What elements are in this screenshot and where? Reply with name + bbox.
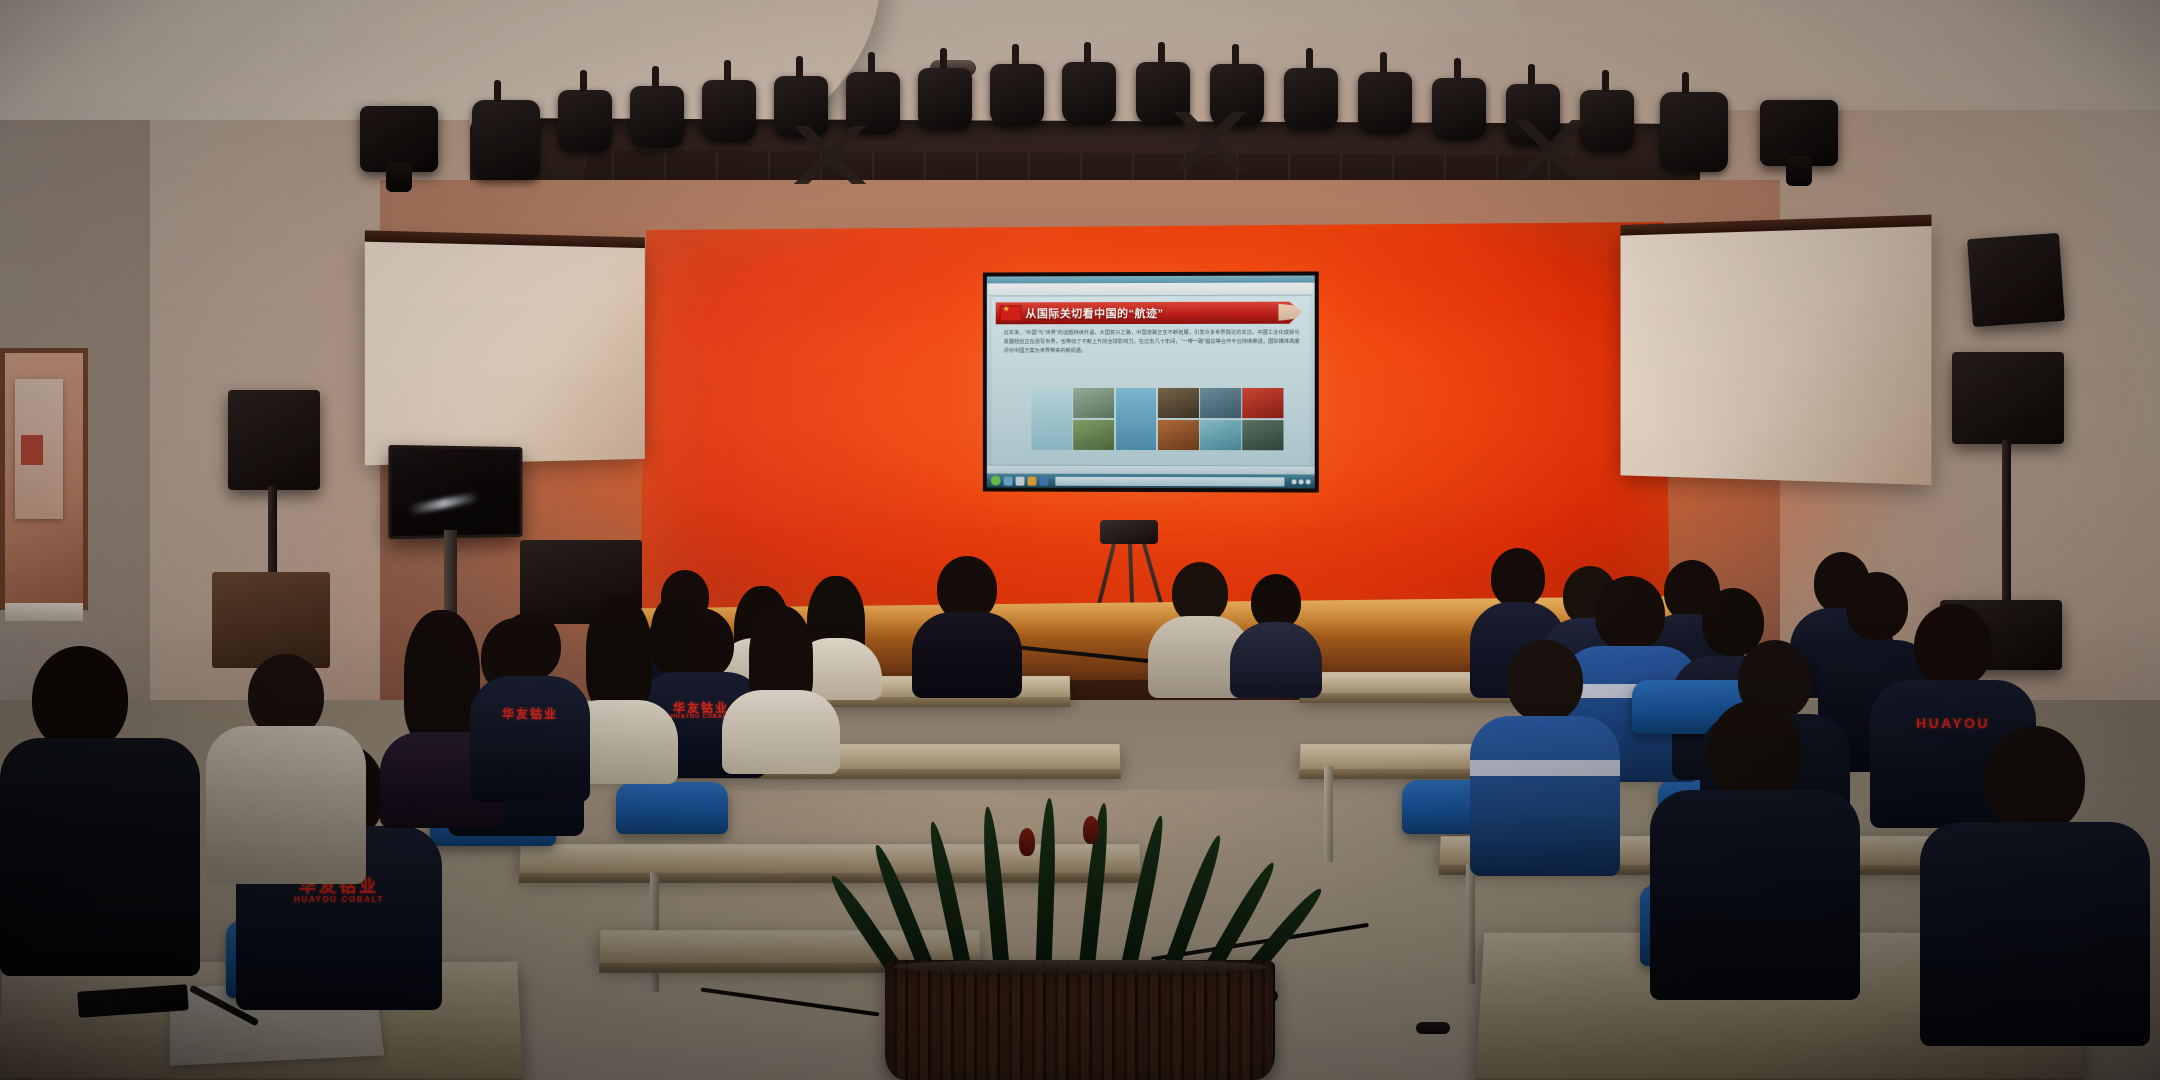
wall-poster: [15, 379, 63, 519]
person-torso: [1920, 822, 2150, 1046]
lighting-truss: [330, 34, 1870, 184]
slide-title: 从国际关切看中国的“航迹”: [1025, 305, 1163, 321]
lecture-hall-photo: 从国际关切看中国的“航迹” 近年来，“中国”与“世界”的话题持续升温，大国复兴之…: [0, 0, 2160, 1080]
par-light-icon: [1358, 72, 1412, 134]
person-torso: [722, 690, 840, 774]
main-projection-screen[interactable]: 从国际关切看中国的“航迹” 近年来，“中国”与“世界”的话题持续升温，大国复兴之…: [983, 271, 1319, 492]
par-light-icon: [558, 90, 612, 152]
person-torso: [1470, 716, 1620, 876]
person-head: [1491, 548, 1545, 608]
start-orb-icon[interactable]: [991, 476, 1001, 486]
browser-icon[interactable]: [1016, 476, 1025, 485]
par-light-icon: [630, 86, 684, 148]
media-player-icon[interactable]: [1027, 476, 1036, 485]
par-light-icon: [990, 64, 1044, 126]
slide-ribbon-tail: [1278, 304, 1304, 321]
chair: [616, 782, 728, 834]
audience-person: 华友钴业: [470, 612, 590, 802]
person-torso: [1230, 622, 1322, 698]
truss-cross-brace: [770, 126, 890, 184]
collage-tile: [1073, 388, 1114, 418]
truss-cross-brace: [1150, 112, 1270, 170]
monitor-glare: [407, 492, 478, 515]
slide-body-text: 近年来，“中国”与“世界”的话题持续升温，大国复兴之路，中国道路正在不断拓展，引…: [1004, 329, 1300, 356]
par-light-icon: [918, 68, 972, 130]
taskbar-window-button[interactable]: [1055, 476, 1284, 486]
jacket-logo-cn: 华友钴业: [502, 708, 558, 721]
system-tray[interactable]: [1292, 479, 1311, 484]
person-head: [1914, 604, 1992, 688]
jacket-logo: 华友钴业: [502, 708, 558, 721]
moving-head-light-icon: [360, 106, 438, 172]
audience-person: [206, 654, 366, 884]
par-light-icon: [1660, 92, 1728, 172]
audience-person: [0, 646, 200, 976]
audience-person: [722, 606, 840, 774]
tray-icon[interactable]: [1306, 479, 1311, 484]
collage-tile: [1073, 420, 1114, 450]
person-head: [1172, 562, 1228, 624]
china-flag-icon: [1000, 305, 1022, 321]
speaker-right-wall: [1967, 233, 2065, 327]
person-torso: [912, 612, 1022, 698]
moving-head-light-icon: [1760, 100, 1838, 166]
planter-slats: [885, 960, 1275, 1080]
person-torso: 华友钴业: [470, 676, 590, 802]
tray-icon[interactable]: [1292, 479, 1297, 484]
audience-person: [1230, 574, 1322, 698]
slide-photo-collage: [1031, 388, 1283, 450]
desk-leg: [1466, 864, 1475, 984]
audience-person: [1650, 700, 1860, 1000]
powerpoint-icon[interactable]: [1039, 476, 1048, 485]
red-flower: [1083, 816, 1099, 844]
par-light-icon: [702, 80, 756, 142]
collage-tile: [1116, 388, 1157, 450]
speaker-left-upper: [228, 390, 320, 490]
floor-microphone-icon: [1416, 1022, 1450, 1034]
collage-tile: [1200, 420, 1241, 450]
collage-tile: [1031, 388, 1072, 450]
person-head: [1985, 726, 2085, 834]
collage-tile: [1200, 388, 1241, 418]
explorer-icon[interactable]: [1004, 476, 1013, 485]
tray-icon[interactable]: [1299, 479, 1304, 484]
planter-rim: [893, 960, 1267, 974]
person-head: [499, 612, 561, 680]
par-light-icon: [1284, 68, 1338, 130]
projected-slide: 从国际关切看中国的“航迹” 近年来，“中国”与“世界”的话题持续升温，大国复兴之…: [987, 275, 1315, 488]
person-head: [32, 646, 128, 752]
desk-leg: [1324, 766, 1333, 862]
window-sill: [5, 603, 83, 621]
reflective-stripe: [1470, 760, 1620, 776]
video-camera-icon: [1100, 520, 1158, 544]
person-torso: [206, 726, 366, 884]
person-hair: [586, 596, 652, 712]
speaker-right-upper: [1952, 352, 2064, 444]
side-window: [0, 348, 88, 610]
slide-canvas: 从国际关切看中国的“航迹” 近年来，“中国”与“世界”的话题持续升温，大国复兴之…: [992, 297, 1310, 467]
person-torso: [0, 738, 200, 976]
collage-tile: [1242, 388, 1283, 418]
left-pulldown-screen[interactable]: [365, 241, 645, 466]
collage-tile: [1158, 388, 1199, 418]
audience-person: [1920, 726, 2150, 1046]
jacket-logo-en: HUAYOU COBALT: [294, 896, 384, 904]
wall-monitor-screen[interactable]: [388, 445, 522, 539]
truss-cross-brace: [1490, 120, 1610, 178]
speaker-stand-pole: [2002, 440, 2011, 612]
par-light-icon: [1432, 78, 1486, 140]
red-flower: [1019, 828, 1035, 856]
audience-person: [912, 556, 1022, 698]
par-light-icon: [846, 72, 900, 134]
audience-person: [1470, 640, 1620, 876]
person-hair: [404, 610, 480, 746]
windows-taskbar[interactable]: [987, 474, 1315, 489]
slide-title-banner: 从国际关切看中国的“航迹”: [996, 302, 1302, 325]
person-head: [1708, 700, 1802, 802]
speaker-stand-pole: [268, 486, 277, 572]
collage-tile: [1158, 420, 1199, 450]
collage-tile: [1242, 420, 1283, 450]
par-light-icon: [1062, 62, 1116, 124]
powerpoint-ribbon: [989, 283, 1313, 297]
planter-box: [885, 906, 1275, 1080]
par-light-icon: [472, 100, 540, 180]
person-head: [1507, 640, 1583, 722]
person-torso: [1650, 790, 1860, 1000]
right-pulldown-screen[interactable]: [1621, 225, 1932, 485]
